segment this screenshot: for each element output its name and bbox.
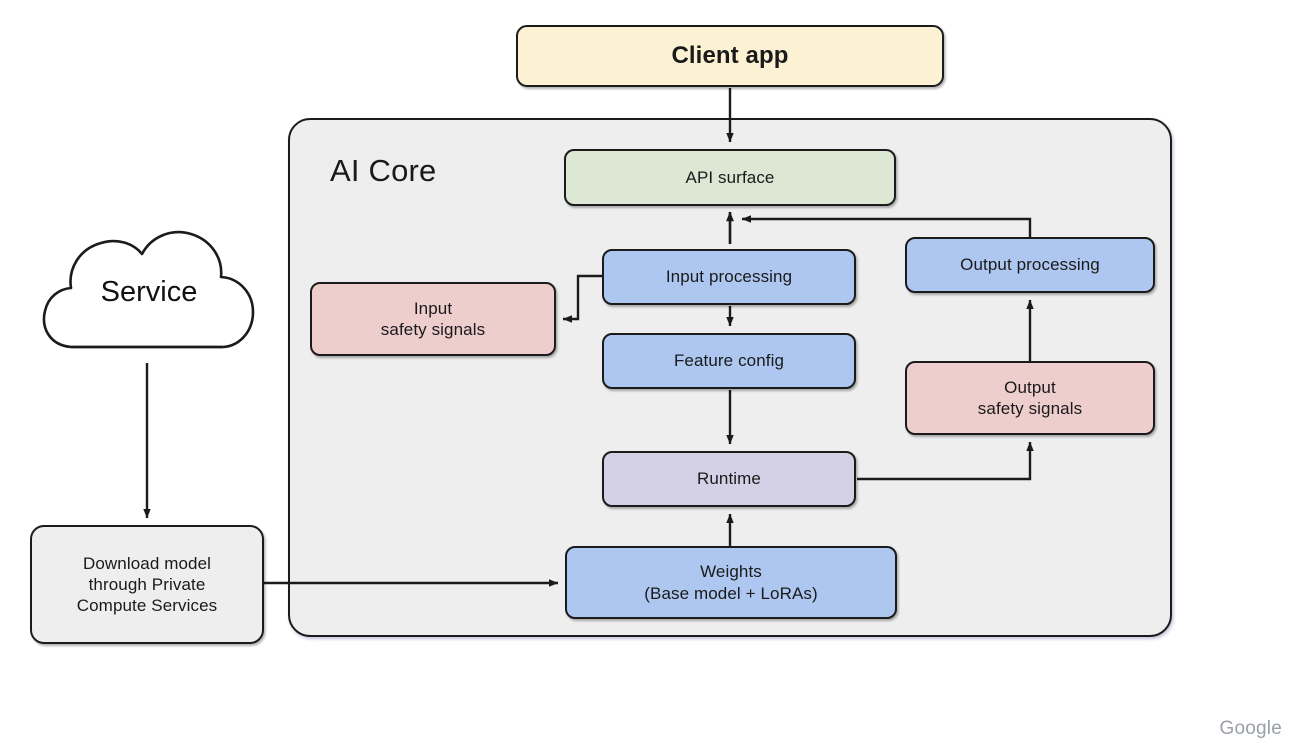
node-client-app-label: Client app (671, 41, 788, 71)
node-client-app[interactable]: Client app (516, 25, 944, 87)
node-download-model-label: Download model through Private Compute S… (77, 553, 218, 617)
node-weights[interactable]: Weights (Base model + LoRAs) (565, 546, 897, 619)
node-api-surface[interactable]: API surface (564, 149, 896, 206)
node-weights-label: Weights (Base model + LoRAs) (644, 561, 818, 604)
node-output-safety-signals[interactable]: Output safety signals (905, 361, 1155, 435)
node-input-processing-label: Input processing (666, 266, 792, 287)
node-input-safety-signals[interactable]: Input safety signals (310, 282, 556, 356)
node-feature-config-label: Feature config (674, 350, 784, 371)
node-input-safety-signals-label: Input safety signals (381, 298, 485, 341)
node-api-surface-label: API surface (686, 167, 775, 188)
node-download-model[interactable]: Download model through Private Compute S… (30, 525, 264, 644)
diagram-canvas: AI Core (0, 0, 1304, 756)
node-output-safety-signals-label: Output safety signals (978, 377, 1082, 420)
service-cloud-label: Service (35, 276, 263, 309)
ai-core-title: AI Core (330, 153, 437, 189)
node-runtime[interactable]: Runtime (602, 451, 856, 507)
node-feature-config[interactable]: Feature config (602, 333, 856, 389)
node-runtime-label: Runtime (697, 468, 761, 489)
node-input-processing[interactable]: Input processing (602, 249, 856, 305)
node-output-processing-label: Output processing (960, 254, 1100, 275)
node-output-processing[interactable]: Output processing (905, 237, 1155, 293)
google-wordmark: Google (1220, 718, 1282, 740)
